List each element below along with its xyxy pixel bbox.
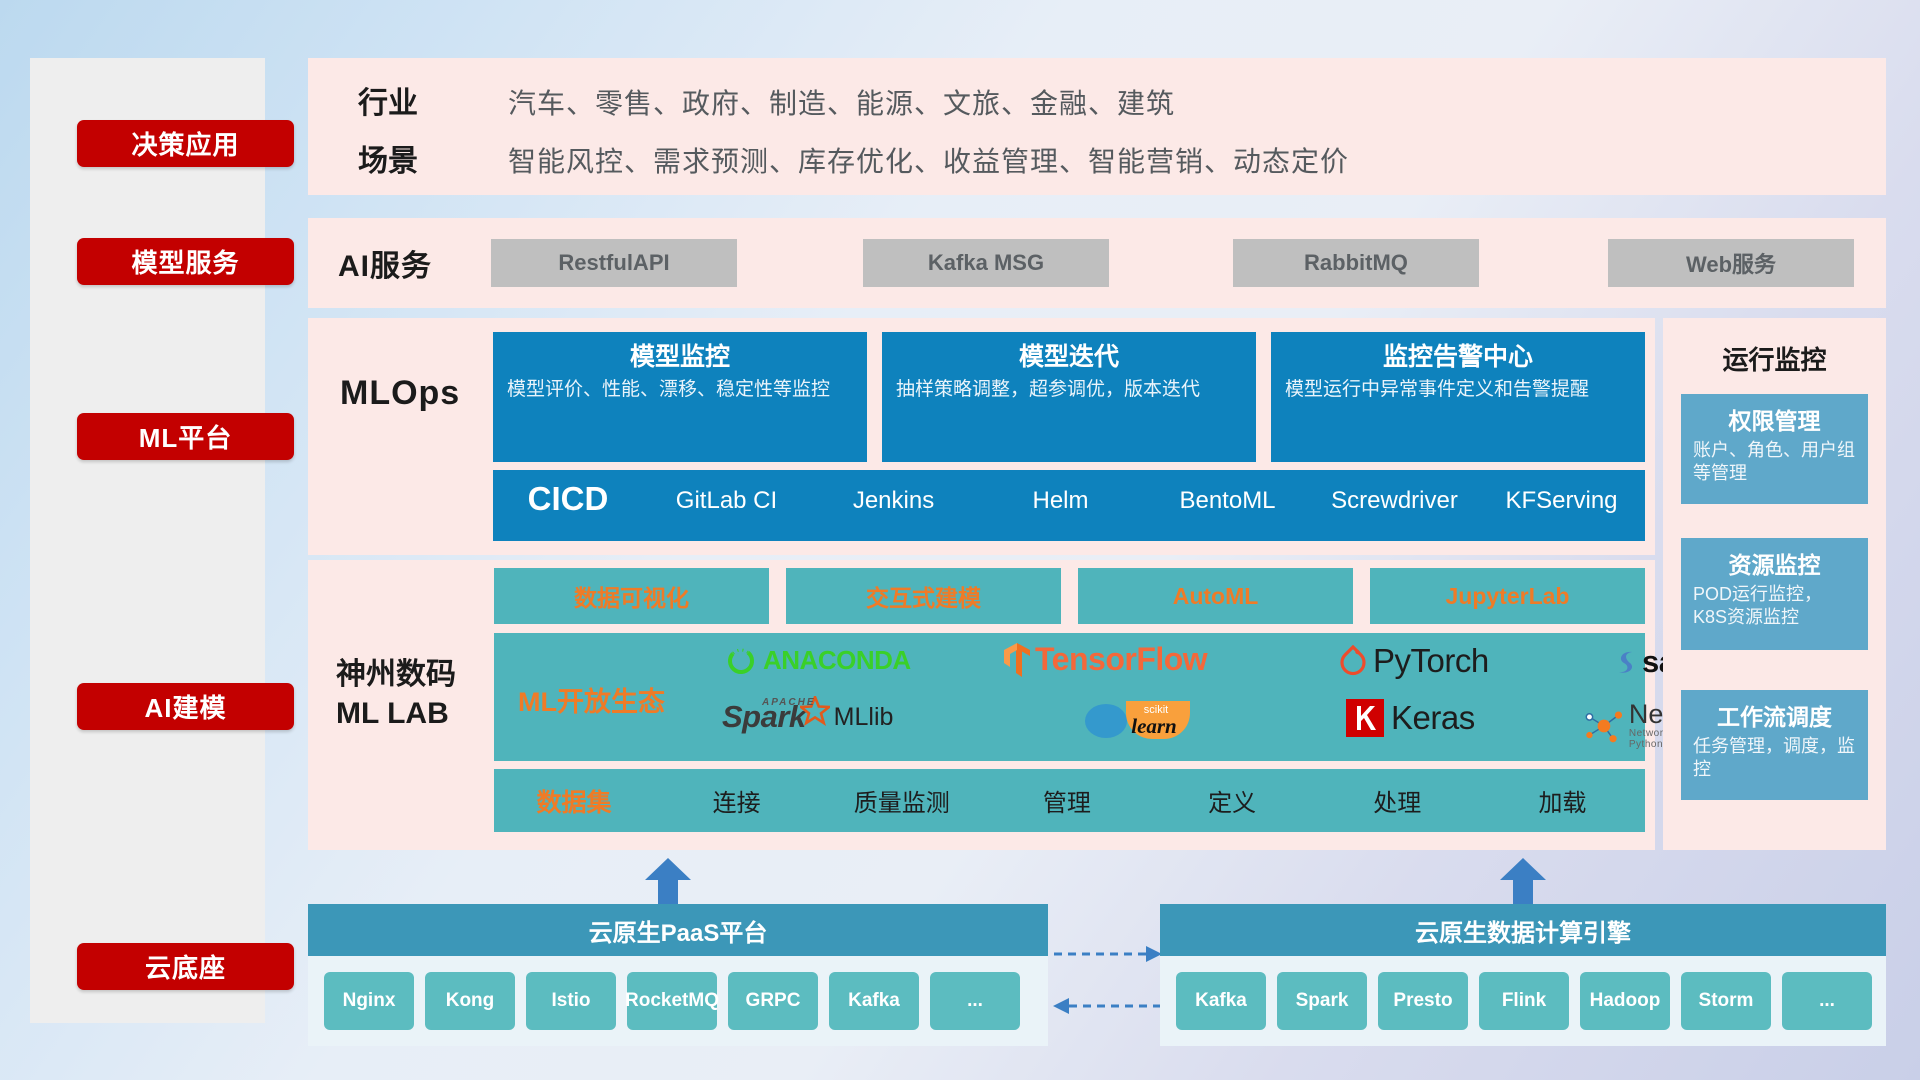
data-compute-engine-header: 云原生数据计算引擎 (1160, 904, 1886, 956)
industry-scenario-panel: 行业 汽车、零售、政府、制造、能源、文旅、金融、建筑 场景 智能风控、需求预测、… (308, 58, 1886, 195)
engine-chip-presto[interactable]: Presto (1378, 972, 1468, 1030)
mlops-card-alert-center[interactable]: 监控告警中心 模型运行中异常事件定义和告警提醒 (1271, 332, 1645, 462)
data-compute-engine-box: 云原生数据计算引擎 Kafka Spark Presto Flink Hadoo… (1160, 904, 1886, 1046)
tool-chip-automl[interactable]: AutoML (1078, 568, 1353, 624)
engine-chip-storm[interactable]: Storm (1681, 972, 1771, 1030)
paas-platform-header: 云原生PaaS平台 (308, 904, 1048, 956)
dataset-item-load[interactable]: 加载 (1480, 783, 1645, 818)
engine-chip-more[interactable]: ... (1782, 972, 1872, 1030)
keras-icon (1346, 699, 1384, 737)
scikit-learn-icon: scikit learn (1084, 695, 1194, 743)
paas-platform-box: 云原生PaaS平台 Nginx Kong Istio RocketMQ GRPC… (308, 904, 1048, 1046)
scikit-learn-logo: scikit learn (1084, 695, 1194, 743)
cicd-item-kfserving[interactable]: KFServing (1478, 470, 1645, 516)
tensorflow-icon (1004, 643, 1030, 677)
diagram-canvas: 决策应用 模型服务 ML平台 AI建模 云底座 行业 汽车、零售、政府、制造、能… (0, 0, 1920, 1080)
arrow-up-right-icon (1500, 858, 1546, 904)
ai-service-chip-web-service[interactable]: Web服务 (1608, 239, 1854, 287)
card-title: 工作流调度 (1693, 698, 1856, 732)
pytorch-icon (1339, 645, 1367, 677)
anaconda-icon (726, 646, 756, 676)
monitor-card-workflow[interactable]: 工作流调度 任务管理，调度，监控 (1681, 690, 1868, 800)
card-title: 权限管理 (1693, 402, 1856, 436)
card-desc: 抽样策略调整，超参调优，版本迭代 (896, 377, 1242, 403)
card-desc: 模型评价、性能、漂移、稳定性等监控 (507, 377, 853, 403)
tool-chip-interactive-modeling[interactable]: 交互式建模 (786, 568, 1061, 624)
paas-chip-rocketmq[interactable]: RocketMQ (627, 972, 717, 1030)
cicd-bar: CICD GitLab CI Jenkins Helm BentoML Scre… (493, 470, 1645, 541)
paas-chip-grpc[interactable]: GRPC (728, 972, 818, 1030)
pytorch-wordmark: PyTorch (1373, 642, 1489, 680)
paas-chip-istio[interactable]: Istio (526, 972, 616, 1030)
rail-item-ai-modeling[interactable]: AI建模 (77, 683, 294, 730)
cicd-item-gitlab-ci[interactable]: GitLab CI (643, 470, 810, 516)
card-title: 资源监控 (1693, 546, 1856, 580)
keras-wordmark: Keras (1391, 699, 1475, 737)
ml-ecosystem-band: ML开放生态 ANACONDA TensorFlow (494, 633, 1645, 761)
anaconda-wordmark: ANACONDA (763, 645, 911, 676)
card-desc: 账户、角色、用户组等管理 (1693, 439, 1856, 486)
scenario-value: 智能风控、需求预测、库存优化、收益管理、智能营销、动态定价 (508, 140, 1349, 180)
dataset-label: 数据集 (494, 783, 654, 819)
rail-item-ml-platform[interactable]: ML平台 (77, 413, 294, 460)
cicd-item-bentoml[interactable]: BentoML (1144, 470, 1311, 516)
tool-chip-jupyterlab[interactable]: JupyterLab (1370, 568, 1645, 624)
dataset-item-manage[interactable]: 管理 (984, 783, 1149, 818)
cicd-label: CICD (493, 470, 643, 518)
engine-chip-flink[interactable]: Flink (1479, 972, 1569, 1030)
run-monitor-title: 运行监控 (1663, 340, 1886, 377)
card-desc: POD运行监控，K8S资源监控 (1693, 583, 1856, 630)
pytorch-logo: PyTorch (1339, 642, 1489, 680)
paas-chip-kong[interactable]: Kong (425, 972, 515, 1030)
spark-mllib-logo: APACHE Spark MLlib (722, 699, 893, 735)
tensorflow-wordmark: TensorFlow (1035, 641, 1207, 678)
apache-label: APACHE (762, 697, 815, 708)
dataset-band: 数据集 连接 质量监测 管理 定义 处理 加载 (494, 769, 1645, 832)
ai-service-label: AI服务 (338, 218, 432, 308)
engine-chip-spark[interactable]: Spark (1277, 972, 1367, 1030)
card-desc: 模型运行中异常事件定义和告警提醒 (1285, 377, 1631, 403)
keras-logo: Keras (1346, 699, 1475, 737)
ai-service-chip-kafka-msg[interactable]: Kafka MSG (863, 239, 1109, 287)
dataset-item-connect[interactable]: 连接 (654, 783, 819, 818)
cicd-item-helm[interactable]: Helm (977, 470, 1144, 516)
cicd-item-screwdriver[interactable]: Screwdriver (1311, 470, 1478, 516)
ml-lab-label: 神州数码 ML LAB (336, 655, 456, 733)
industry-value: 汽车、零售、政府、制造、能源、文旅、金融、建筑 (508, 82, 1175, 122)
mlops-card-model-iteration[interactable]: 模型迭代 抽样策略调整，超参调优，版本迭代 (882, 332, 1256, 462)
monitor-card-resource[interactable]: 资源监控 POD运行监控，K8S资源监控 (1681, 538, 1868, 650)
ml-ecosystem-label: ML开放生态 (518, 680, 665, 719)
ai-service-chip-restfulapi[interactable]: RestfulAPI (491, 239, 737, 287)
card-title: 监控告警中心 (1285, 342, 1631, 373)
ai-service-panel: AI服务 RestfulAPI Kafka MSG RabbitMQ Web服务 (308, 218, 1886, 308)
mllib-wordmark: MLlib (834, 703, 894, 732)
mlops-label: MLOps (340, 318, 460, 468)
mlops-card-model-monitoring[interactable]: 模型监控 模型评价、性能、漂移、稳定性等监控 (493, 332, 867, 462)
scenario-key: 场景 (358, 136, 418, 180)
tensorflow-logo: TensorFlow (1004, 641, 1207, 678)
arrow-up-left-icon (645, 858, 691, 904)
run-monitor-panel: 运行监控 权限管理 账户、角色、用户组等管理 资源监控 POD运行监控，K8S资… (1663, 318, 1886, 850)
engine-chip-hadoop[interactable]: Hadoop (1580, 972, 1670, 1030)
card-title: 模型迭代 (896, 342, 1242, 373)
paas-chip-kafka[interactable]: Kafka (829, 972, 919, 1030)
ml-lab-label-line1: 神州数码 (336, 655, 456, 694)
industry-key: 行业 (358, 78, 418, 122)
rail-item-cloud-base[interactable]: 云底座 (77, 943, 294, 990)
tool-chip-data-visualization[interactable]: 数据可视化 (494, 568, 769, 624)
sas-icon (1612, 648, 1640, 676)
dataset-item-define[interactable]: 定义 (1150, 783, 1315, 818)
dataset-item-quality-monitoring[interactable]: 质量监测 (819, 783, 984, 818)
rail-item-decision-app[interactable]: 决策应用 (77, 120, 294, 167)
paas-chip-more[interactable]: ... (930, 972, 1020, 1030)
left-rail: 决策应用 模型服务 ML平台 AI建模 云底座 (30, 58, 265, 1023)
engine-chip-kafka[interactable]: Kafka (1176, 972, 1266, 1030)
card-desc: 任务管理，调度，监控 (1693, 735, 1856, 782)
ai-modeling-panel: 神州数码 ML LAB 数据可视化 交互式建模 AutoML JupyterLa… (308, 560, 1655, 850)
ml-lab-label-line2: ML LAB (336, 694, 456, 733)
anaconda-logo: ANACONDA (726, 645, 911, 676)
rail-item-model-service[interactable]: 模型服务 (77, 238, 294, 285)
networkx-icon (1584, 707, 1624, 745)
paas-chip-nginx[interactable]: Nginx (324, 972, 414, 1030)
mlops-panel: MLOps 模型监控 模型评价、性能、漂移、稳定性等监控 模型迭代 抽样策略调整… (308, 318, 1655, 555)
cloud-connector-arrows (1050, 940, 1165, 1030)
card-title: 模型监控 (507, 342, 853, 373)
dataset-item-process[interactable]: 处理 (1315, 783, 1480, 818)
ai-service-chip-rabbitmq[interactable]: RabbitMQ (1233, 239, 1479, 287)
cicd-item-jenkins[interactable]: Jenkins (810, 470, 977, 516)
svg-text:learn: learn (1131, 714, 1177, 738)
monitor-card-permission[interactable]: 权限管理 账户、角色、用户组等管理 (1681, 394, 1868, 504)
